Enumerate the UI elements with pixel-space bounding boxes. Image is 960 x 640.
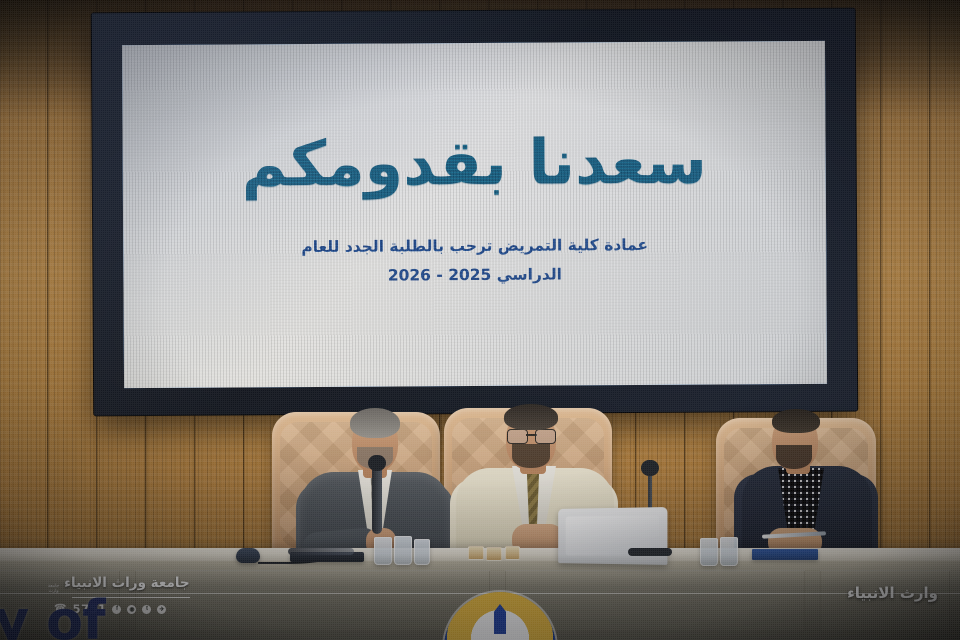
screenshot-root: سعدنا بقدومكم عمادة كلية التمريض ترحب با…	[0, 0, 960, 640]
led-display-frame: سعدنا بقدومكم عمادة كلية التمريض ترحب با…	[92, 9, 857, 416]
microphone-left-head	[368, 455, 386, 471]
person-center-hair	[504, 404, 558, 430]
slide-background	[122, 41, 827, 388]
slide-gold-arc-outer	[122, 41, 827, 388]
person-center-beard	[512, 444, 550, 468]
slide-headline: سعدنا بقدومكم	[123, 129, 826, 197]
facebook-icon[interactable]: f	[112, 605, 121, 614]
eyeglasses-icon	[507, 429, 556, 442]
university-wordmark-large: y of	[0, 589, 105, 640]
bottom-overlay-band: جامعة وراث الانبياء جامعة وارث ☎ 5751 f …	[0, 554, 960, 640]
slide-gold-arc-inner	[122, 41, 827, 388]
person-right-hair	[772, 409, 820, 433]
microphone-left-stem	[372, 462, 382, 534]
instagram-icon[interactable]: ◉	[127, 605, 136, 614]
led-pixel-grid	[122, 41, 827, 388]
microphone-right-head	[641, 460, 659, 476]
slide-subtitle: عمادة كلية التمريض ترحب بالطلبة الجدد لل…	[123, 230, 826, 292]
person-left-hair	[350, 408, 400, 438]
slide-gold-arc-thin	[122, 41, 827, 388]
led-scanlines	[122, 41, 827, 388]
slide-white-arc	[122, 41, 827, 388]
slide-subtitle-line-2: الدراسي 2025 - 2026	[123, 259, 826, 292]
slide-paper-texture	[122, 41, 827, 388]
slide-subtitle-line-1: عمادة كلية التمريض ترحب بالطلبة الجدد لل…	[123, 230, 826, 263]
person-right-beard	[776, 445, 812, 469]
telegram-icon[interactable]: ✈	[157, 605, 166, 614]
slide-text-block: سعدنا بقدومكم عمادة كلية التمريض ترحب با…	[123, 129, 827, 292]
slide-paper-card	[122, 41, 827, 388]
twitter-icon[interactable]: t	[142, 605, 151, 614]
led-display-screen: سعدنا بقدومكم عمادة كلية التمريض ترحب با…	[122, 41, 827, 388]
watermark-right-logo: وارث الانبياء	[847, 584, 938, 602]
overlay-hairline	[0, 593, 960, 594]
